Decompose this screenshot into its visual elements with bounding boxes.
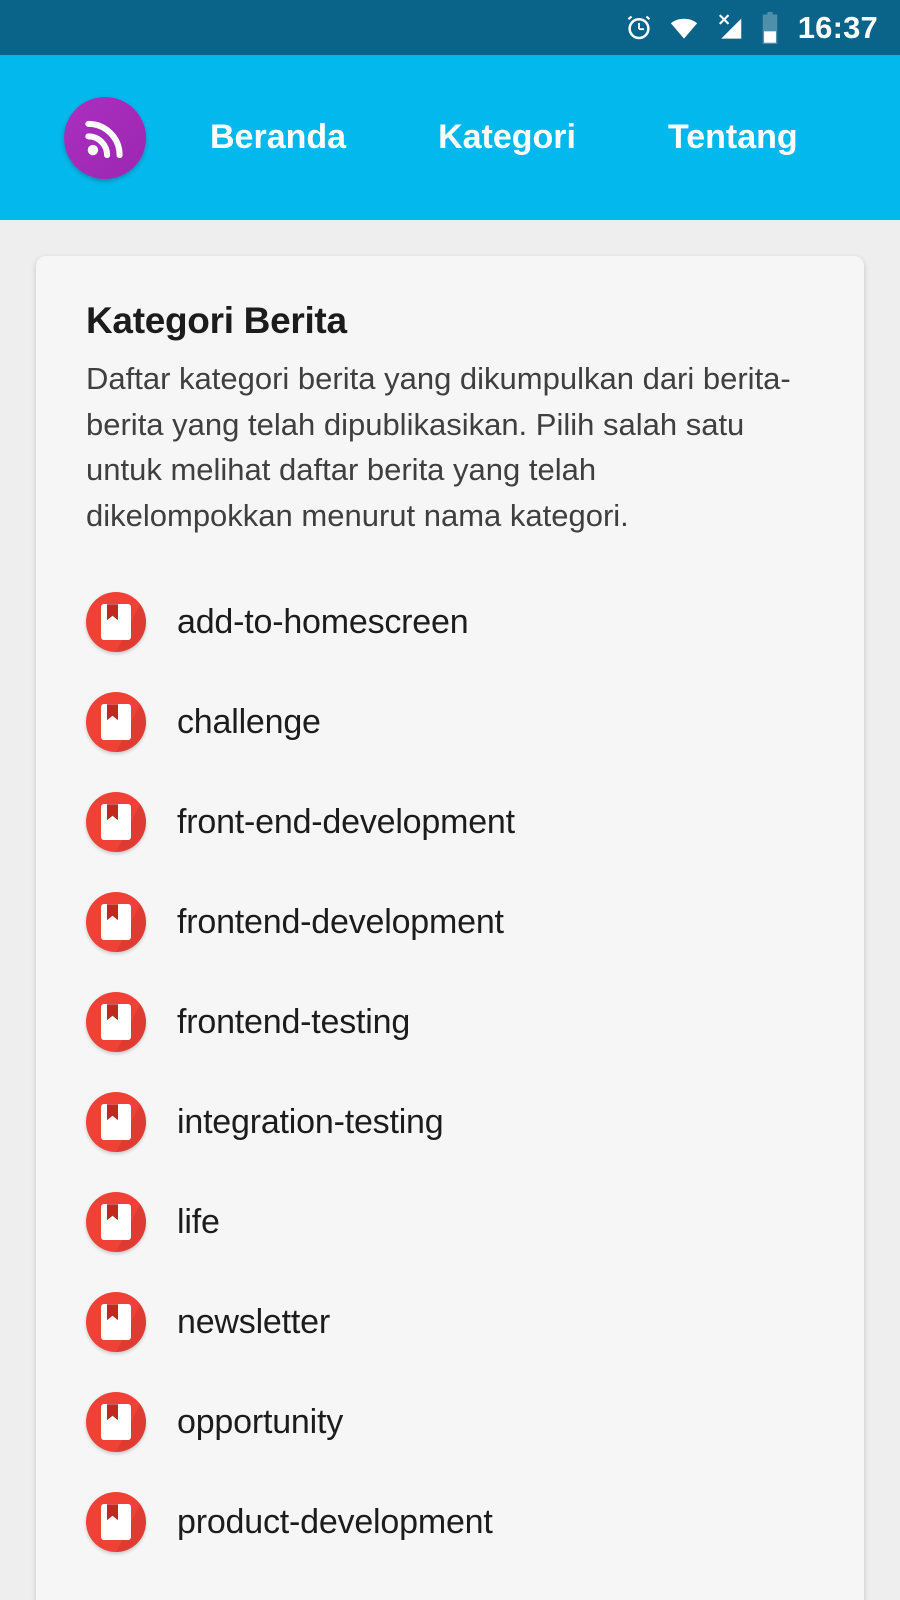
status-bar-clock: 16:37 [798,12,878,43]
app-root: 16:37 Beranda Kategori Tentang Kategori … [0,0,900,1600]
category-list-item[interactable]: front-end-development [86,772,830,872]
kategori-card: Kategori Berita Daftar kategori berita y… [36,256,864,1600]
nav-link-kategori[interactable]: Kategori [438,118,576,157]
category-list: add-to-homescreenchallengefront-end-deve… [86,572,830,1572]
category-label: front-end-development [177,803,515,842]
category-label: integration-testing [177,1103,443,1142]
bookmark-icon [86,992,146,1052]
bookmark-icon [86,1192,146,1252]
page-title: Kategori Berita [86,300,830,342]
app-logo[interactable] [64,97,146,179]
bookmark-icon [86,1492,146,1552]
category-label: opportunity [177,1403,343,1442]
category-list-item[interactable]: frontend-testing [86,972,830,1072]
bookmark-icon [86,1092,146,1152]
category-label: newsletter [177,1303,330,1342]
nav-link-beranda[interactable]: Beranda [210,118,346,157]
category-list-item[interactable]: frontend-development [86,872,830,972]
category-label: life [177,1203,220,1242]
alarm-icon [624,13,654,43]
cellular-no-signal-icon [714,13,746,43]
bookmark-icon [86,592,146,652]
category-list-item[interactable]: product-development [86,1472,830,1572]
page-description: Daftar kategori berita yang dikumpulkan … [86,356,796,538]
bookmark-icon [86,792,146,852]
category-list-item[interactable]: integration-testing [86,1072,830,1172]
status-bar: 16:37 [0,0,900,55]
category-label: frontend-testing [177,1003,410,1042]
category-list-item[interactable]: add-to-homescreen [86,572,830,672]
nav-link-tentang[interactable]: Tentang [668,118,798,157]
top-navigation-bar: Beranda Kategori Tentang [0,55,900,220]
nav-links: Beranda Kategori Tentang [210,118,798,157]
rss-feed-icon [80,113,130,163]
category-list-item[interactable]: life [86,1172,830,1272]
category-label: frontend-development [177,903,504,942]
bookmark-icon [86,1392,146,1452]
category-label: add-to-homescreen [177,603,468,642]
category-list-item[interactable]: opportunity [86,1372,830,1472]
wifi-icon [668,13,700,43]
battery-icon [760,12,780,44]
bookmark-icon [86,692,146,752]
category-label: challenge [177,703,321,742]
category-list-item[interactable]: newsletter [86,1272,830,1372]
bookmark-icon [86,1292,146,1352]
bookmark-icon [86,892,146,952]
category-list-item[interactable]: challenge [86,672,830,772]
category-label: product-development [177,1503,493,1542]
